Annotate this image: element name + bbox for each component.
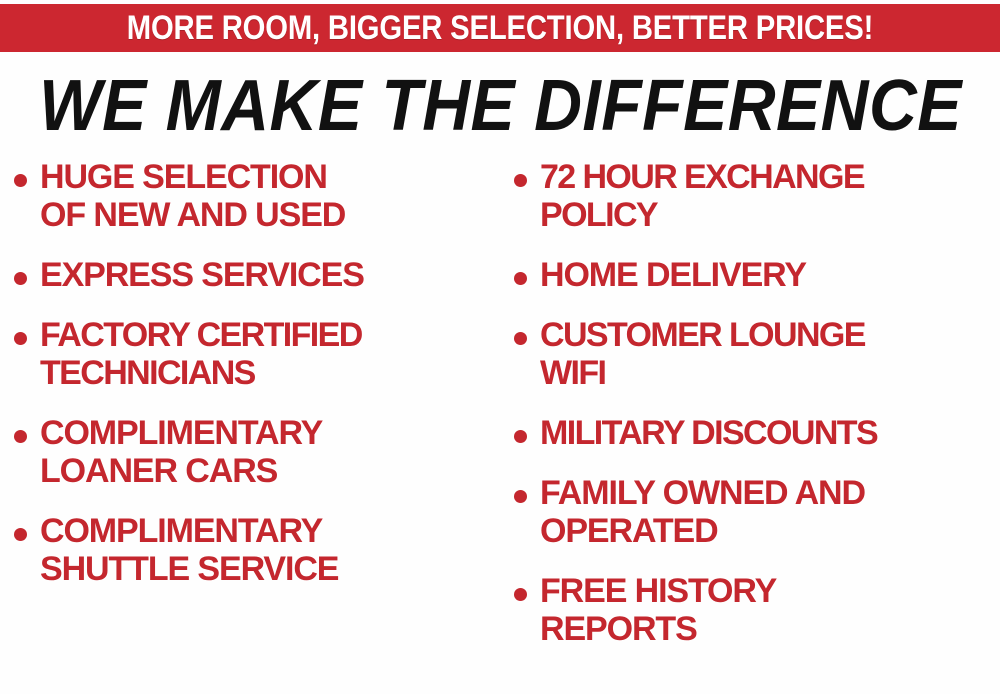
benefit-label: COMPLIMENTARY LOANER CARS xyxy=(40,414,322,490)
list-item: COMPLIMENTARY LOANER CARS xyxy=(14,414,504,490)
list-item: CUSTOMER LOUNGE WIFI xyxy=(514,316,1000,392)
bullet-dot-icon xyxy=(514,430,527,443)
benefit-label: FAMILY OWNED AND OPERATED xyxy=(540,474,865,550)
list-item: COMPLIMENTARY SHUTTLE SERVICE xyxy=(14,512,504,588)
benefit-label: EXPRESS SERVICES xyxy=(40,256,364,294)
bullet-dot-icon xyxy=(514,272,527,285)
bullet-dot-icon xyxy=(514,332,527,345)
bullet-dot-icon xyxy=(514,490,527,503)
bullet-dot-icon xyxy=(514,588,527,601)
benefits-column-right: 72 HOUR EXCHANGE POLICY HOME DELIVERY CU… xyxy=(514,158,1000,670)
benefit-label: HUGE SELECTION OF NEW AND USED xyxy=(40,158,345,234)
bullet-dot-icon xyxy=(14,528,27,541)
bullet-dot-icon xyxy=(14,430,27,443)
bullet-dot-icon xyxy=(14,272,27,285)
advertisement-poster: MORE ROOM, BIGGER SELECTION, BETTER PRIC… xyxy=(0,0,1000,694)
benefit-label: HOME DELIVERY xyxy=(540,256,806,294)
bullet-dot-icon xyxy=(514,174,527,187)
list-item: MILITARY DISCOUNTS xyxy=(514,414,1000,452)
list-item: FREE HISTORY REPORTS xyxy=(514,572,1000,648)
list-item: 72 HOUR EXCHANGE POLICY xyxy=(514,158,1000,234)
list-item: FACTORY CERTIFIED TECHNICIANS xyxy=(14,316,504,392)
list-item: HUGE SELECTION OF NEW AND USED xyxy=(14,158,504,234)
benefits-column-left: HUGE SELECTION OF NEW AND USED EXPRESS S… xyxy=(14,158,504,610)
list-item: EXPRESS SERVICES xyxy=(14,256,504,294)
promo-banner: MORE ROOM, BIGGER SELECTION, BETTER PRIC… xyxy=(0,4,1000,52)
bullet-dot-icon xyxy=(14,332,27,345)
benefit-label: FREE HISTORY REPORTS xyxy=(540,572,776,648)
headline-container: WE MAKE THE DIFFERENCE xyxy=(0,66,1000,146)
bullet-dot-icon xyxy=(14,174,27,187)
list-item: FAMILY OWNED AND OPERATED xyxy=(514,474,1000,550)
benefit-label: CUSTOMER LOUNGE WIFI xyxy=(540,316,865,392)
benefit-label: COMPLIMENTARY SHUTTLE SERVICE xyxy=(40,512,338,588)
promo-banner-text: MORE ROOM, BIGGER SELECTION, BETTER PRIC… xyxy=(127,11,873,45)
benefit-label: MILITARY DISCOUNTS xyxy=(540,414,877,452)
benefit-label: FACTORY CERTIFIED TECHNICIANS xyxy=(40,316,362,392)
benefit-label: 72 HOUR EXCHANGE POLICY xyxy=(540,158,864,234)
list-item: HOME DELIVERY xyxy=(514,256,1000,294)
page-title: WE MAKE THE DIFFERENCE xyxy=(39,70,962,142)
benefits-columns: HUGE SELECTION OF NEW AND USED EXPRESS S… xyxy=(0,158,1000,694)
